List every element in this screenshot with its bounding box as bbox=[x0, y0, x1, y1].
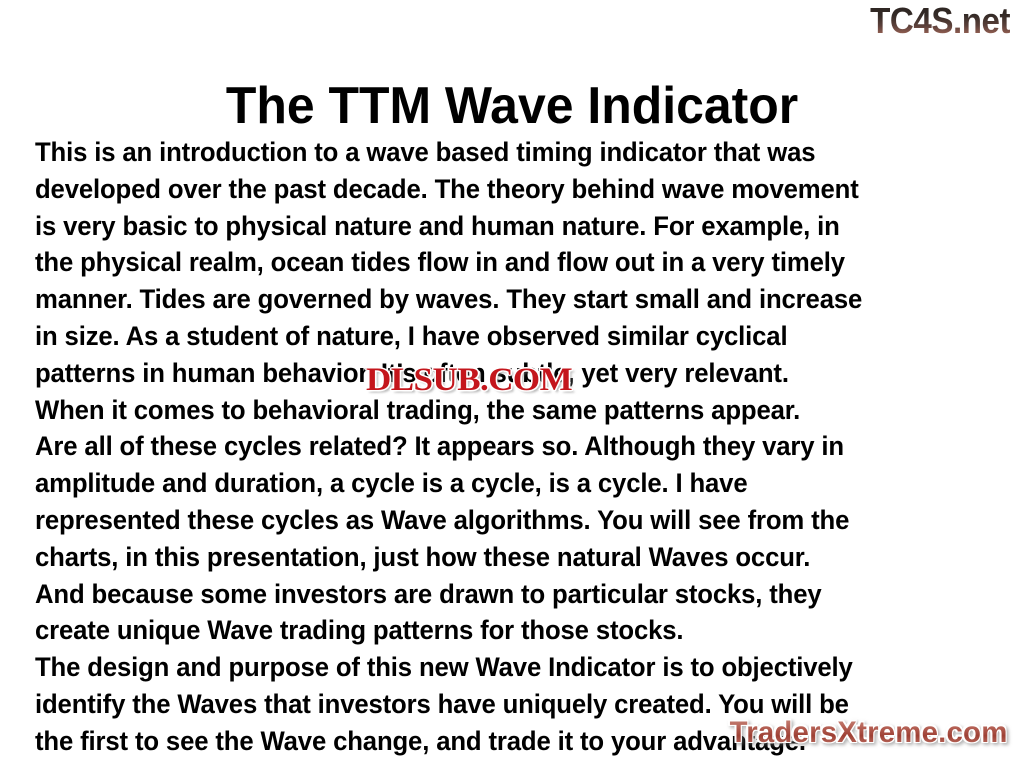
body-line: in size. As a student of nature, I have … bbox=[35, 318, 966, 355]
body-line: represented these cycles as Wave algorit… bbox=[35, 502, 966, 539]
body-line: And because some investors are drawn to … bbox=[35, 576, 966, 613]
body-line: The design and purpose of this new Wave … bbox=[35, 649, 966, 686]
body-line: Are all of these cycles related? It appe… bbox=[35, 428, 966, 465]
tradersxtreme-watermark: TradersXtreme.com bbox=[730, 716, 1008, 750]
body-line: is very basic to physical nature and hum… bbox=[35, 208, 966, 245]
body-line: developed over the past decade. The theo… bbox=[35, 171, 966, 208]
body-line: the physical realm, ocean tides flow in … bbox=[35, 244, 966, 281]
body-line: charts, in this presentation, just how t… bbox=[35, 539, 966, 576]
body-line: This is an introduction to a wave based … bbox=[35, 134, 966, 171]
page-title: The TTM Wave Indicator bbox=[20, 75, 1003, 137]
slide-body-text: This is an introduction to a wave based … bbox=[35, 134, 995, 760]
tc4s-brand-logo: TC4S.net bbox=[870, 2, 1010, 40]
dlsub-watermark: DLSUB.COM bbox=[366, 362, 572, 398]
body-line: manner. Tides are governed by waves. The… bbox=[35, 281, 966, 318]
body-line: create unique Wave trading patterns for … bbox=[35, 612, 966, 649]
body-line: amplitude and duration, a cycle is a cyc… bbox=[35, 465, 966, 502]
presentation-slide: TC4S.net The TTM Wave Indicator This is … bbox=[0, 0, 1024, 768]
